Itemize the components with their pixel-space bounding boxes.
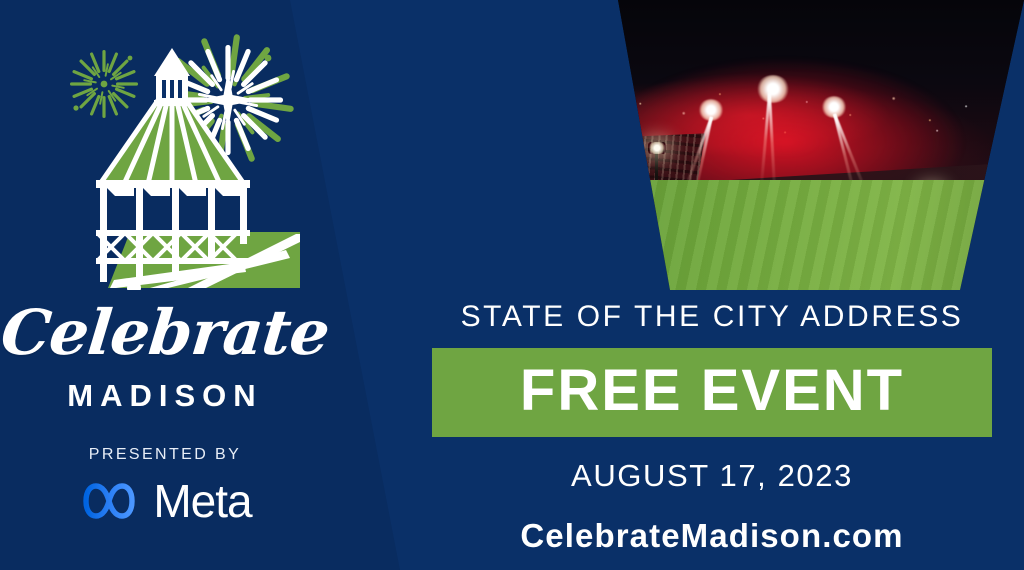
celebrate-madison-logo: Celebrate MADISON PRESENTED BY Meta — [0, 0, 330, 570]
stadium-stands — [300, 133, 705, 232]
event-website[interactable]: CelebrateMadison.com — [432, 517, 992, 555]
photo-canvas — [300, 0, 1024, 290]
meta-infinity-icon — [78, 481, 140, 521]
madison-wordmark: MADISON — [0, 378, 330, 414]
free-event-badge: FREE EVENT — [432, 348, 992, 437]
promo-poster: Celebrate MADISON PRESENTED BY Meta STAT… — [0, 0, 1024, 570]
infield-dirt — [314, 213, 560, 290]
meta-sponsor-logo: Meta — [0, 478, 330, 524]
baseball-field — [300, 180, 1024, 290]
celebrate-script-wordmark: Celebrate — [0, 296, 334, 369]
gazebo-icon — [38, 22, 302, 290]
meta-wordmark: Meta — [153, 478, 251, 524]
light-tower — [568, 119, 571, 223]
stadium-fireworks-photo — [300, 0, 1024, 290]
free-event-label: FREE EVENT — [520, 358, 904, 423]
event-details: STATE OF THE CITY ADDRESS FREE EVENT AUG… — [432, 300, 992, 555]
event-headline: STATE OF THE CITY ADDRESS — [432, 300, 992, 334]
event-date: AUGUST 17, 2023 — [432, 458, 992, 494]
presented-by-label: PRESENTED BY — [0, 446, 330, 464]
light-tower — [474, 128, 477, 220]
firework-burst-green-small — [70, 50, 138, 118]
